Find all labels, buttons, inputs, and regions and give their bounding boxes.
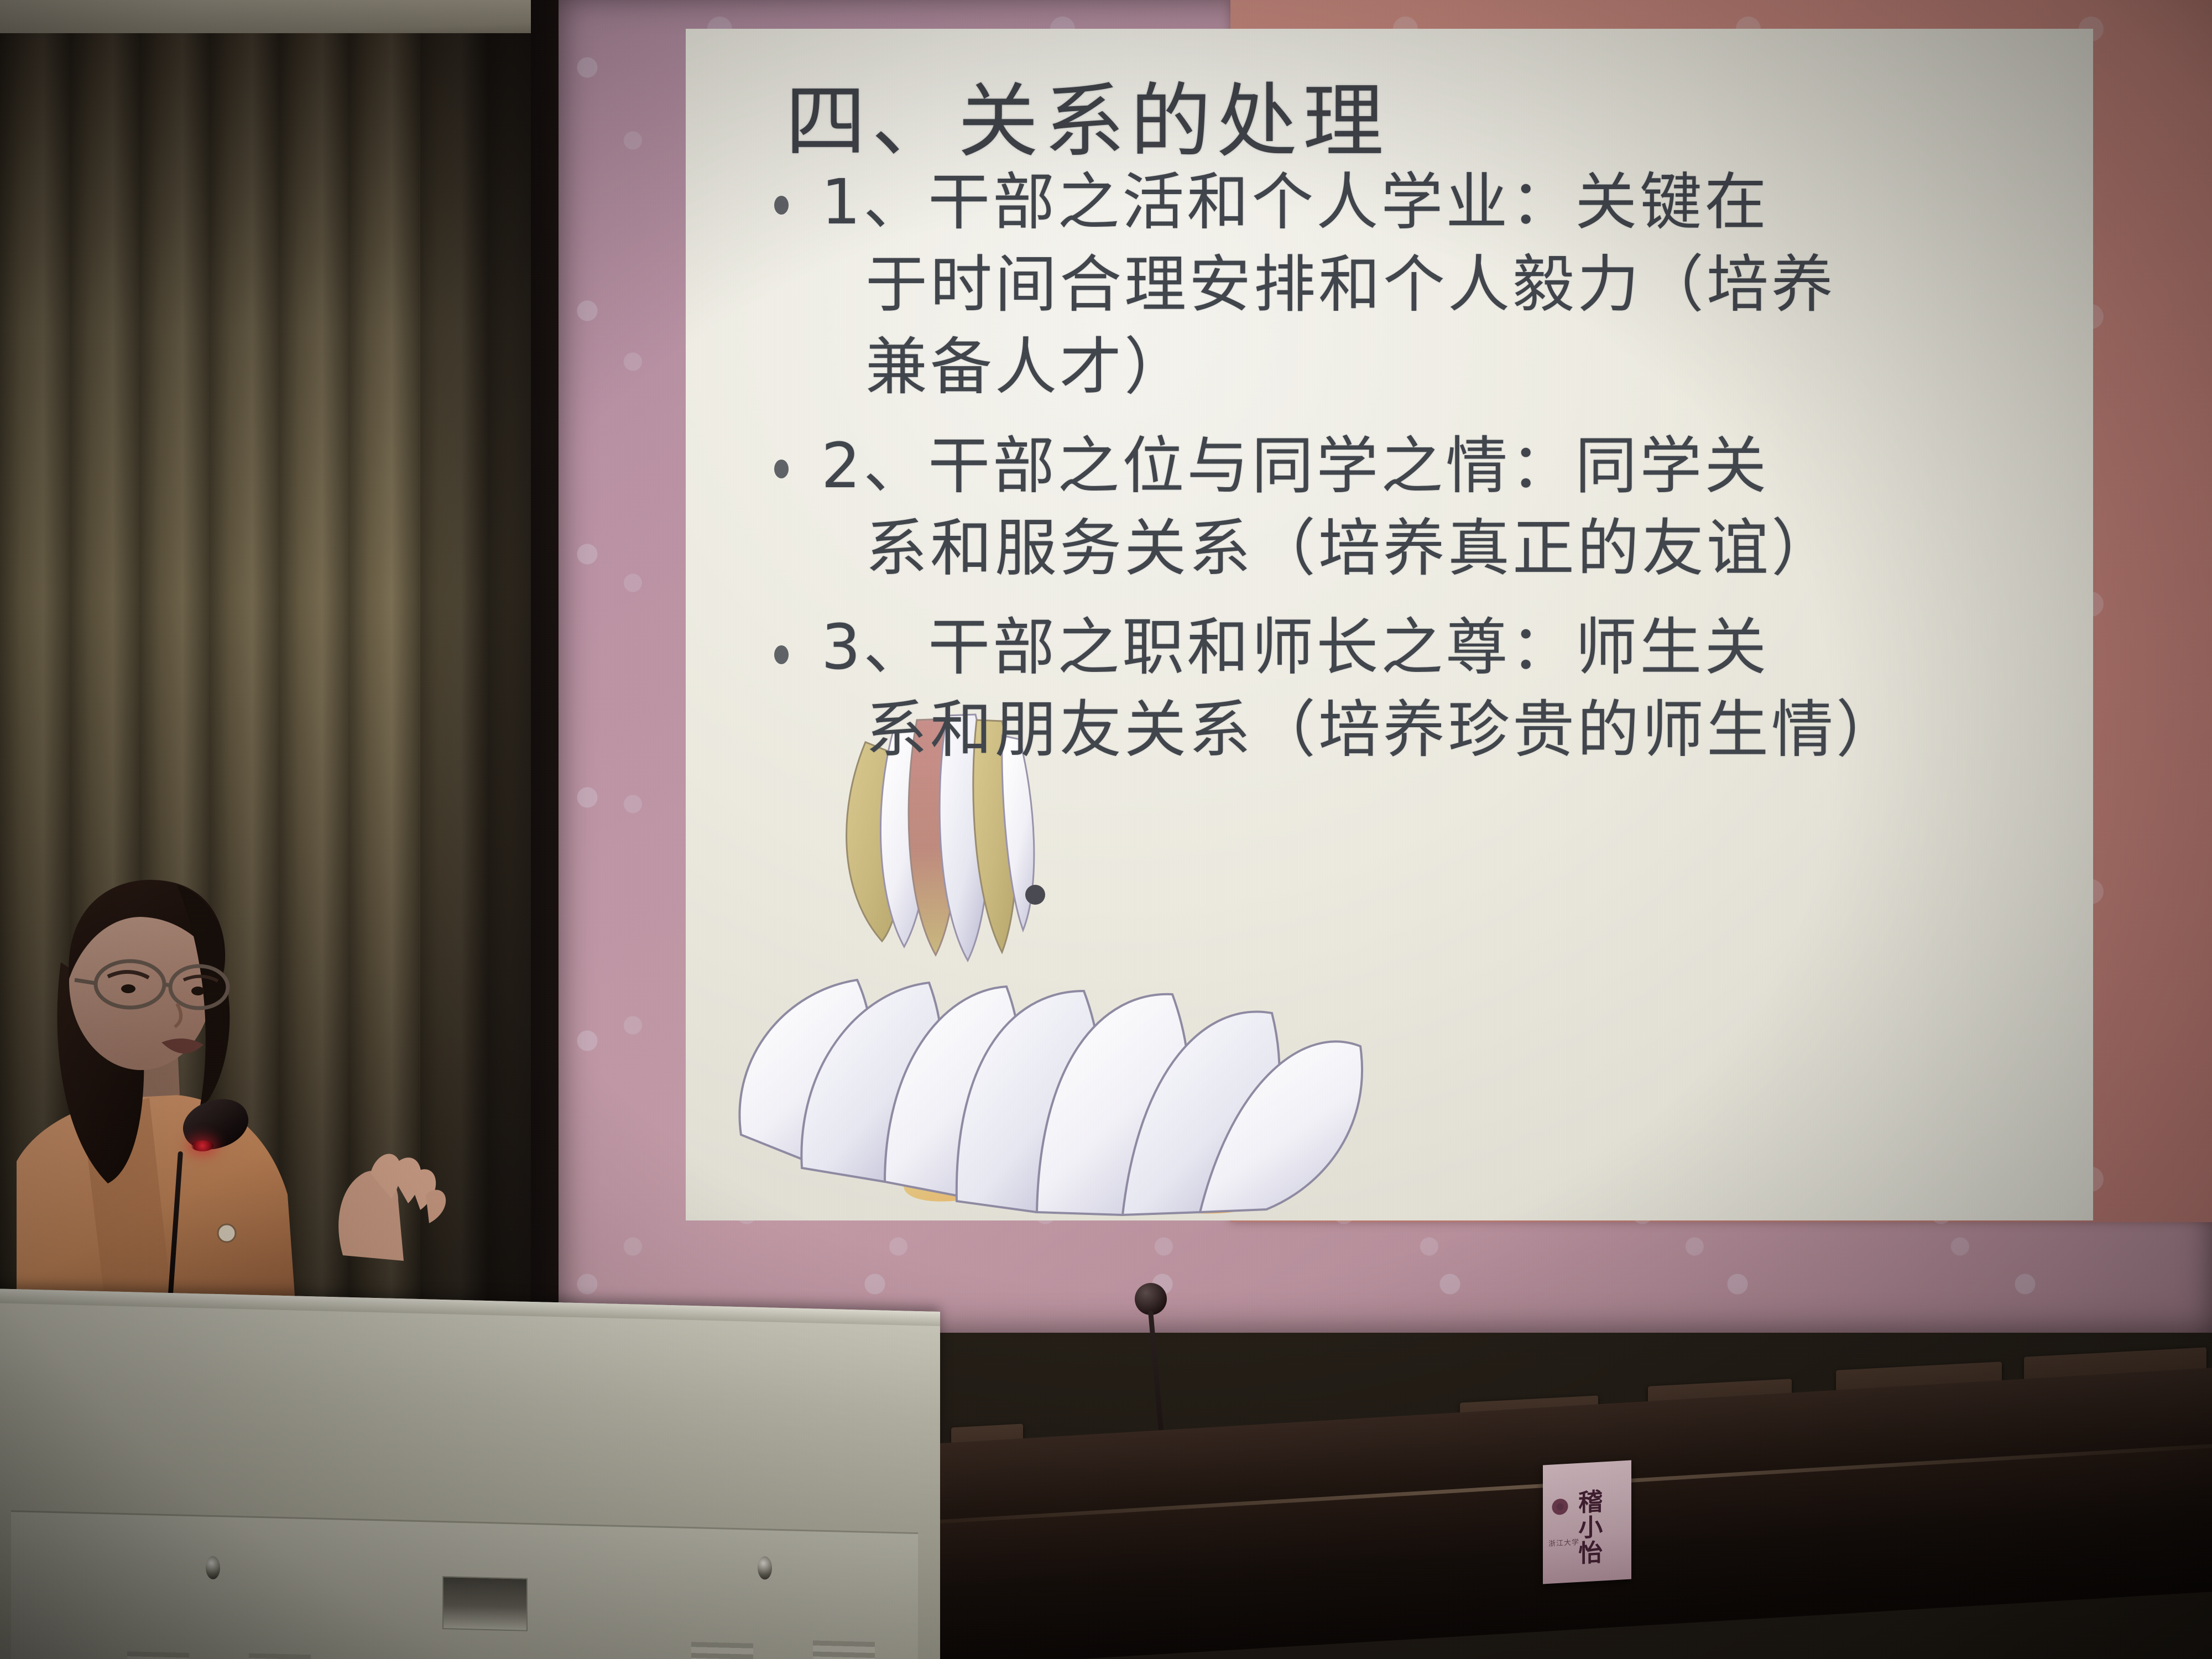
bullet-item-3: 3、干部之职和师长之尊：师生关 系和朋友关系（培养珍贵的师生情）: [769, 607, 2074, 771]
podium-screw: [758, 1556, 772, 1580]
presentation-slide: 四、关系的处理 1、干部之活和个人学业：关键在 于时间合理安排和个人毅力（培养 …: [686, 29, 2093, 1220]
bullet-3-line-2: 系和朋友关系（培养珍贵的师生情）: [865, 689, 2074, 771]
slide-text-block: 四、关系的处理 1、干部之活和个人学业：关键在 于时间合理安排和个人毅力（培养 …: [686, 29, 2093, 1220]
bullet-dot-icon: [774, 460, 789, 478]
microphone-head-icon: [177, 1092, 255, 1157]
front-table: 浙江大学 稽小怡: [940, 1405, 2212, 1659]
slide-bullet-list: 1、干部之活和个人学业：关键在 于时间合理安排和个人毅力（培养 兼备人才） 2、…: [769, 161, 2074, 788]
lectern-podium: [0, 1288, 940, 1659]
screenshot-canvas: 四、关系的处理 1、干部之活和个人学业：关键在 于时间合理安排和个人毅力（培养 …: [0, 0, 2212, 1659]
bullet-3-line-1: 3、干部之职和师长之尊：师生关: [821, 607, 2074, 689]
podium-lock-slot[interactable]: [442, 1576, 528, 1631]
presenter-hand: [338, 1154, 446, 1261]
school-emblem-icon: [1552, 1498, 1568, 1516]
slide-title: 四、关系的处理: [785, 56, 1389, 173]
podium-vent: [691, 1642, 753, 1659]
podium-screw: [206, 1556, 220, 1580]
bullet-item-2: 2、干部之位与同学之情：同学关 系和服务关系（培养真正的友谊）: [769, 425, 2074, 590]
microphone-led-indicator: [191, 1140, 213, 1151]
podium-vent: [127, 1651, 189, 1659]
bullet-2-line-1: 2、干部之位与同学之情：同学关: [821, 425, 2074, 508]
bullet-2-line-2: 系和服务关系（培养真正的友谊）: [865, 508, 2074, 590]
bullet-1-line-3: 兼备人才）: [865, 326, 2074, 409]
podium-vent: [813, 1640, 875, 1659]
bullet-item-1: 1、干部之活和个人学业：关键在 于时间合理安排和个人毅力（培养 兼备人才）: [769, 161, 2074, 409]
podium-vent: [249, 1653, 311, 1659]
nameplate: 浙江大学 稽小怡: [1543, 1460, 1631, 1584]
bullet-1-line-1: 1、干部之活和个人学业：关键在: [821, 161, 2074, 244]
bullet-1-line-2: 于时间合理安排和个人毅力（培养: [865, 244, 2074, 326]
speaker-presenter: [11, 852, 509, 1349]
nameplate-name: 稽小怡: [1575, 1489, 1600, 1567]
bullet-dot-icon: [774, 196, 789, 215]
bullet-dot-icon: [774, 645, 789, 664]
